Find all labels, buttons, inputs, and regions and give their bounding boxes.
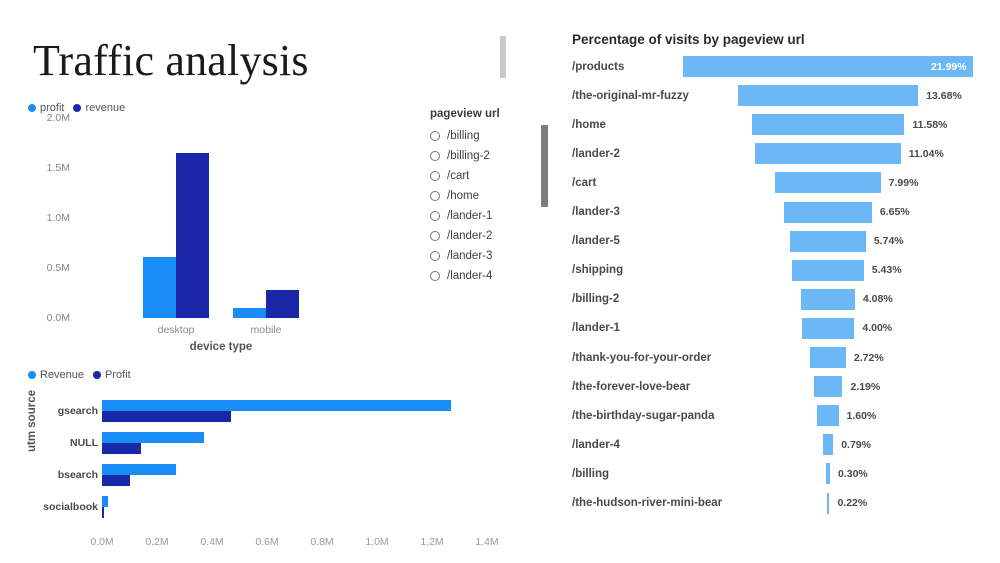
funnel-category-label: /billing-2 (572, 293, 619, 305)
funnel-category-label: /lander-1 (572, 322, 620, 334)
radio-button-icon[interactable] (430, 171, 440, 181)
funnel-category-label: /home (572, 119, 606, 131)
x-axis-tick-label: 1.2M (420, 536, 443, 548)
pageview-funnel-chart: Percentage of visits by pageview url /pr… (560, 25, 1000, 545)
x-axis-tick-label: 0.8M (310, 536, 333, 548)
bar-chart-category-labels: gsearchNULLbsearchsocialbook (22, 388, 98, 518)
slicer-item-billing-2[interactable]: /billing-2 (430, 146, 540, 166)
funnel-category-label: /thank-you-for-your-order (572, 352, 711, 364)
funnel-value-label: 4.08% (863, 293, 893, 305)
funnel-category-label: /the-original-mr-fuzzy (572, 90, 689, 102)
bar-chart-plot (102, 388, 502, 518)
column-chart-y-axis: 0.0M0.5M1.0M1.5M2.0M (0, 118, 70, 318)
column-bar-mobile-revenue[interactable] (266, 290, 299, 318)
device-column-chart: 0.0M0.5M1.0M1.5M2.0M desktopmobiledevice… (0, 118, 420, 350)
slicer-item-list: /billing/billing-2/cart/home/lander-1/la… (430, 126, 540, 286)
column-bar-desktop-revenue[interactable] (176, 153, 209, 318)
legend-label: Revenue (40, 369, 84, 381)
legend-item-revenue[interactable]: Revenue (28, 369, 84, 381)
legend-swatch-icon (28, 104, 36, 112)
funnel-value-label: 21.99% (931, 61, 967, 73)
slicer-item-label: /lander-1 (447, 210, 492, 222)
bar-NULL-Revenue[interactable] (102, 432, 204, 443)
page-title: Traffic analysis (33, 35, 309, 86)
funnel-value-label: 0.79% (841, 439, 871, 451)
slicer-item-label: /home (447, 190, 479, 202)
radio-button-icon[interactable] (430, 131, 440, 141)
funnel-category-label: /shipping (572, 264, 623, 276)
funnel-bar[interactable] (802, 318, 855, 339)
legend-label: revenue (85, 102, 125, 114)
slicer-item-label: /lander-3 (447, 250, 492, 262)
legend-swatch-icon (28, 371, 36, 379)
funnel-value-label: 6.65% (880, 206, 910, 218)
slicer-item-lander-2[interactable]: /lander-2 (430, 226, 540, 246)
funnel-bar[interactable] (784, 202, 872, 223)
legend-item-profit[interactable]: Profit (93, 369, 131, 381)
x-axis-tick-label: 1.4M (475, 536, 498, 548)
legend-label: Profit (105, 369, 131, 381)
column-chart-plot: desktopmobiledevice type (78, 118, 408, 318)
funnel-value-label: 2.19% (850, 381, 880, 393)
bar-socialbook-Profit[interactable] (102, 507, 104, 518)
funnel-value-label: 0.30% (838, 468, 868, 480)
bar-NULL-Profit[interactable] (102, 443, 141, 454)
bar-category-label: bsearch (28, 469, 98, 481)
bar-gsearch-Revenue[interactable] (102, 400, 451, 411)
funnel-category-label: /lander-4 (572, 439, 620, 451)
bar-bsearch-Revenue[interactable] (102, 464, 176, 475)
slicer-item-label: /lander-4 (447, 270, 492, 282)
slicer-item-cart[interactable]: /cart (430, 166, 540, 186)
funnel-bar[interactable] (792, 260, 864, 281)
radio-button-icon[interactable] (430, 251, 440, 261)
legend-item-revenue[interactable]: revenue (73, 102, 125, 114)
bar-gsearch-Profit[interactable] (102, 411, 231, 422)
funnel-bar[interactable] (810, 347, 846, 368)
x-axis-tick-label: 0.0M (90, 536, 113, 548)
y-axis-tick-label: 2.0M (24, 112, 70, 124)
funnel-bar[interactable] (827, 493, 830, 514)
funnel-bar[interactable] (814, 376, 843, 397)
radio-button-icon[interactable] (430, 231, 440, 241)
x-axis-tick-label: 0.4M (200, 536, 223, 548)
funnel-bar[interactable] (683, 56, 973, 77)
funnel-chart-title: Percentage of visits by pageview url (572, 32, 805, 47)
title-scrollbar[interactable] (500, 36, 506, 78)
slicer-item-lander-3[interactable]: /lander-3 (430, 246, 540, 266)
bar-category-label: socialbook (28, 501, 98, 513)
x-axis-tick-label: 1.0M (365, 536, 388, 548)
funnel-value-label: 13.68% (926, 90, 962, 102)
y-axis-tick-label: 0.0M (24, 312, 70, 324)
bar-category-label: gsearch (28, 405, 98, 417)
funnel-category-label: /the-birthday-sugar-panda (572, 410, 714, 422)
slicer-item-label: /billing-2 (447, 150, 490, 162)
slicer-header: pageview url (430, 108, 540, 120)
funnel-category-label: /cart (572, 177, 596, 189)
funnel-value-label: 2.72% (854, 352, 884, 364)
slicer-item-home[interactable]: /home (430, 186, 540, 206)
legend-swatch-icon (73, 104, 81, 112)
radio-button-icon[interactable] (430, 271, 440, 281)
radio-button-icon[interactable] (430, 211, 440, 221)
funnel-category-label: /lander-3 (572, 206, 620, 218)
slicer-item-label: /lander-2 (447, 230, 492, 242)
funnel-category-label: /lander-5 (572, 235, 620, 247)
funnel-value-label: 7.99% (889, 177, 919, 189)
funnel-category-label: /billing (572, 468, 609, 480)
x-axis-tick-label: 0.6M (255, 536, 278, 548)
slicer-scrollbar[interactable] (541, 125, 548, 207)
slicer-item-billing[interactable]: /billing (430, 126, 540, 146)
funnel-value-label: 4.00% (862, 322, 892, 334)
funnel-bar[interactable] (790, 231, 866, 252)
bar-bsearch-Profit[interactable] (102, 475, 130, 486)
funnel-value-label: 11.58% (912, 119, 947, 131)
y-axis-tick-label: 1.0M (24, 212, 70, 224)
funnel-bar[interactable] (752, 114, 905, 135)
column-bar-desktop-profit[interactable] (143, 257, 176, 318)
column-bar-mobile-profit[interactable] (233, 308, 266, 318)
funnel-bar[interactable] (823, 434, 833, 455)
funnel-category-label: /the-forever-love-bear (572, 381, 690, 393)
funnel-bar[interactable] (775, 172, 880, 193)
slicer-item-lander-4[interactable]: /lander-4 (430, 266, 540, 286)
x-axis-tick-label: 0.2M (145, 536, 168, 548)
report-canvas: Traffic analysis profitrevenue 0.0M0.5M1… (0, 0, 1000, 563)
funnel-bar[interactable] (817, 405, 838, 426)
funnel-value-label: 0.22% (837, 497, 867, 509)
pageview-url-slicer[interactable]: pageview url /billing/billing-2/cart/hom… (430, 108, 540, 286)
funnel-category-label: /the-hudson-river-mini-bear (572, 497, 722, 509)
radio-button-icon[interactable] (430, 151, 440, 161)
column-chart-x-axis-title: device type (190, 341, 253, 353)
slicer-item-label: /billing (447, 130, 480, 142)
funnel-value-label: 11.04% (909, 148, 944, 160)
radio-button-icon[interactable] (430, 191, 440, 201)
funnel-value-label: 1.60% (847, 410, 877, 422)
bar-category-label: NULL (28, 437, 98, 449)
funnel-bar[interactable] (738, 85, 918, 106)
y-axis-tick-label: 1.5M (24, 162, 70, 174)
utm-source-bar-chart: gsearchNULLbsearchsocialbook 0.0M0.2M0.4… (0, 388, 520, 563)
x-axis-category-label: mobile (251, 324, 282, 336)
slicer-item-label: /cart (447, 170, 469, 182)
funnel-value-label: 5.43% (872, 264, 902, 276)
bar-socialbook-Revenue[interactable] (102, 496, 108, 507)
funnel-category-label: /products (572, 61, 624, 73)
funnel-category-label: /lander-2 (572, 148, 620, 160)
funnel-bar[interactable] (801, 289, 855, 310)
legend-swatch-icon (93, 371, 101, 379)
funnel-bar[interactable] (826, 463, 830, 484)
slicer-item-lander-1[interactable]: /lander-1 (430, 206, 540, 226)
x-axis-category-label: desktop (158, 324, 195, 336)
y-axis-tick-label: 0.5M (24, 262, 70, 274)
bar-chart-legend: RevenueProfit (28, 369, 131, 381)
funnel-value-label: 5.74% (874, 235, 904, 247)
funnel-bar[interactable] (755, 143, 901, 164)
